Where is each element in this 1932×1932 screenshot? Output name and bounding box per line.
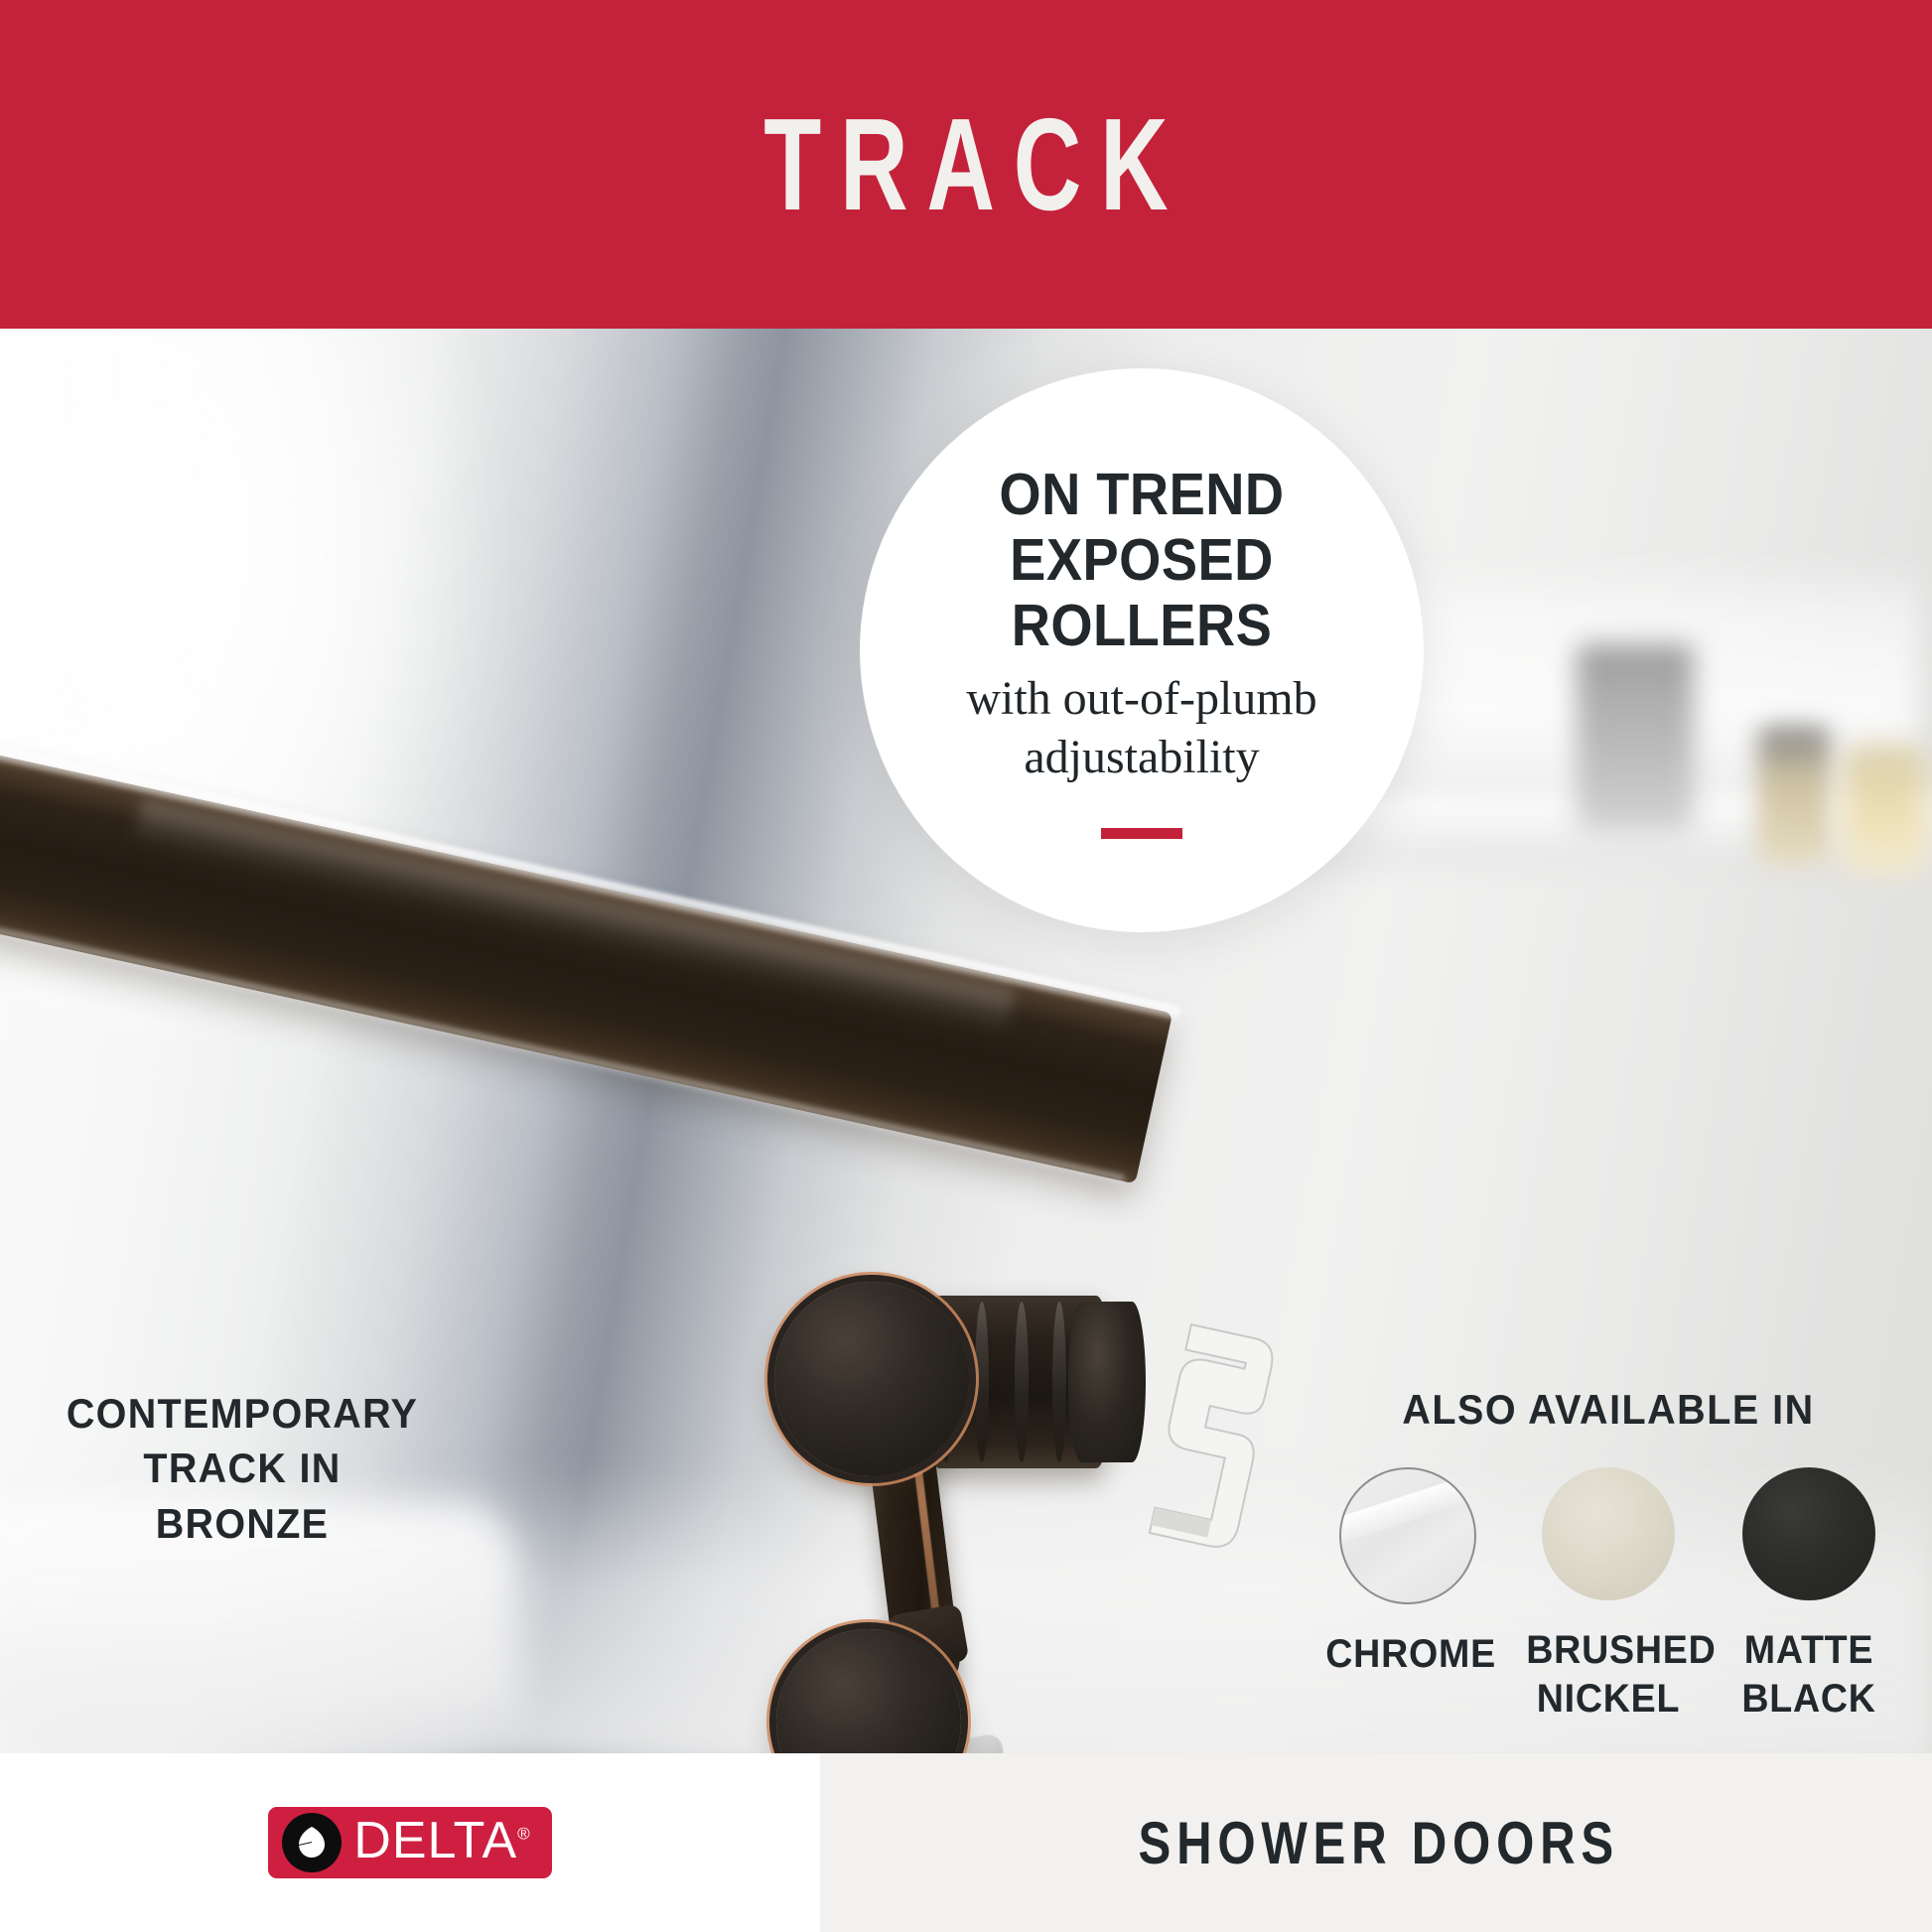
matte-black-label: MATTE BLACK	[1726, 1626, 1890, 1724]
callout-subline: with out-of-plumb adjustability	[926, 670, 1356, 786]
callout-headline-line2: EXPOSED ROLLERS	[888, 527, 1396, 658]
callout-subline-1: with out-of-plumb	[966, 670, 1316, 729]
background-bottle-right	[1843, 746, 1928, 875]
delta-wordmark: DELTA®	[353, 1815, 529, 1866]
header-banner: TRACK	[0, 0, 1932, 329]
brushed-nickel-swatch-icon	[1542, 1467, 1675, 1600]
product-caption-line2: TRACK IN	[47, 1441, 439, 1495]
product-caption: CONTEMPORARY TRACK IN BRONZE	[47, 1386, 439, 1551]
roller-disc-top	[774, 1282, 969, 1476]
chrome-label: CHROME	[1325, 1630, 1489, 1679]
hub-ring-4	[1052, 1302, 1066, 1462]
brushed-nickel-label: BRUSHED NICKEL	[1526, 1626, 1690, 1724]
matte-black-label-line1: MATTE	[1726, 1626, 1890, 1675]
matte-black-label-line2: BLACK	[1726, 1675, 1890, 1724]
callout-headline-line1: ON TREND	[888, 462, 1396, 527]
marketing-image: TRACK	[0, 0, 1932, 1932]
delta-registered-mark: ®	[517, 1825, 530, 1844]
delta-brand-name: DELTA	[353, 1812, 517, 1869]
footer-category-label: SHOWER DOORS	[1133, 1809, 1619, 1877]
callout-headline: ON TREND EXPOSED ROLLERS	[883, 462, 1402, 658]
finish-swatch-row: CHROME BRUSHED NICKEL MATTE BLACK	[1320, 1467, 1896, 1724]
footer-brand-panel: DELTA®	[0, 1753, 820, 1932]
delta-logo[interactable]: DELTA®	[268, 1807, 551, 1878]
product-caption-line1: CONTEMPORARY	[47, 1386, 439, 1441]
finish-options: ALSO AVAILABLE IN CHROME BRUSHED NICKEL	[1320, 1386, 1896, 1724]
hub-end-cap	[1068, 1302, 1146, 1462]
hub-ring-2	[975, 1302, 989, 1462]
background-bottle-left	[1757, 726, 1831, 865]
callout-subline-2: adjustability	[966, 729, 1316, 787]
finish-option-brushed-nickel[interactable]: BRUSHED NICKEL	[1521, 1467, 1696, 1724]
footer-category-panel: SHOWER DOORS	[820, 1753, 1932, 1932]
finish-option-matte-black[interactable]: MATTE BLACK	[1722, 1467, 1896, 1724]
chrome-swatch-icon	[1339, 1467, 1476, 1604]
callout-divider	[1101, 828, 1182, 839]
matte-black-swatch-icon	[1742, 1467, 1875, 1600]
brushed-nickel-label-line1: BRUSHED	[1526, 1626, 1690, 1675]
finish-options-title: ALSO AVAILABLE IN	[1337, 1386, 1878, 1434]
chrome-label-line1: CHROME	[1325, 1630, 1489, 1679]
brushed-nickel-label-line2: NICKEL	[1526, 1675, 1690, 1724]
footer: DELTA® SHOWER DOORS	[0, 1753, 1932, 1932]
roller-assembly	[774, 1282, 1241, 1753]
callout-badge: ON TREND EXPOSED ROLLERS with out-of-plu…	[860, 368, 1424, 932]
hub-ring-3	[1015, 1302, 1029, 1462]
delta-triangle-icon	[282, 1813, 342, 1872]
product-caption-line3: BRONZE	[47, 1496, 439, 1551]
finish-option-chrome[interactable]: CHROME	[1320, 1467, 1495, 1679]
background-vessel	[1577, 644, 1694, 833]
product-photo: ON TREND EXPOSED ROLLERS with out-of-plu…	[0, 329, 1932, 1753]
page-title: TRACK	[746, 99, 1187, 230]
